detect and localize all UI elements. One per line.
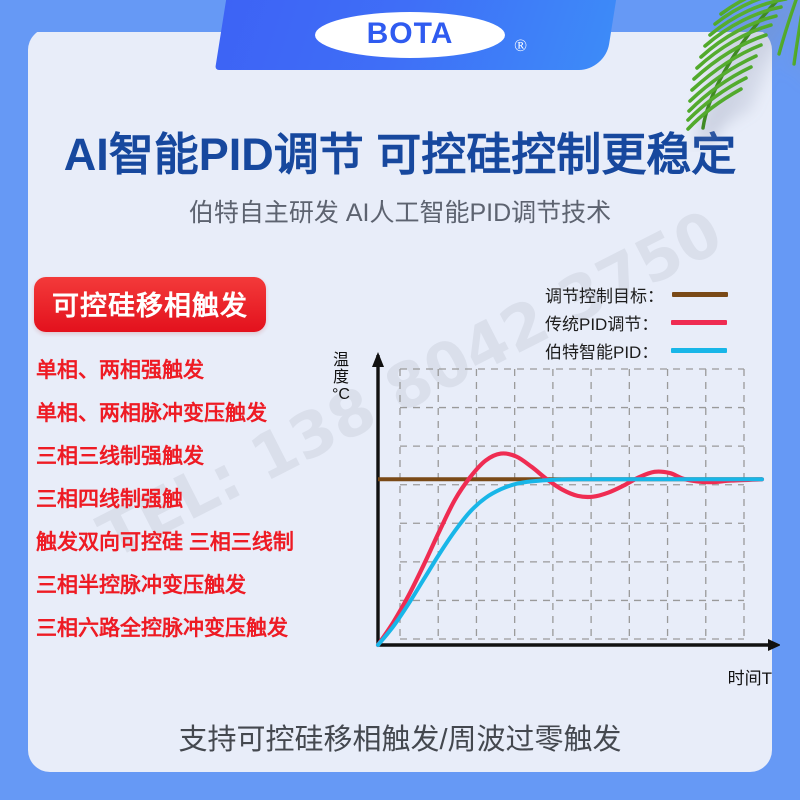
legend-label: 伯特智能PID：: [545, 338, 663, 363]
legend-swatch-smart: [671, 348, 727, 353]
footer-text: 支持可控硅移相触发/周波过零触发: [0, 716, 800, 758]
legend-entry-traditional: 传统PID调节：: [545, 310, 728, 335]
page-title: AI智能PID调节 可控硅控制更稳定: [0, 118, 800, 183]
poster-root: BOTA ®: [0, 0, 800, 800]
list-item: 单相、两相脉冲变压触发: [36, 403, 376, 424]
legend-swatch-target: [672, 292, 728, 297]
chart-legend: 调节控制目标： 传统PID调节： 伯特智能PID：: [545, 282, 728, 366]
brand-logo: BOTA ®: [215, 0, 605, 70]
list-item: 触发双向可控硅 三相三线制: [36, 532, 376, 553]
legend-label: 传统PID调节：: [545, 310, 663, 335]
x-axis-label: 时间T: [728, 664, 772, 689]
page-subtitle: 伯特自主研发 AI人工智能PID调节技术: [0, 193, 800, 229]
legend-swatch-traditional: [671, 320, 727, 325]
list-item: 单相、两相强触发: [36, 360, 376, 381]
list-item: 三相四线制强触: [36, 489, 376, 510]
status-badge: 可控硅移相触发: [34, 277, 266, 332]
registered-mark-icon: ®: [514, 36, 527, 56]
legend-entry-target: 调节控制目标：: [545, 282, 728, 307]
feature-list: 单相、两相强触发 单相、两相脉冲变压触发 三相三线制强触发 三相四线制强触 触发…: [36, 360, 376, 661]
chart-plot-area: [330, 345, 780, 685]
legend-label: 调节控制目标：: [545, 282, 664, 307]
list-item: 三相半控脉冲变压触发: [36, 575, 376, 596]
logo-text: BOTA: [367, 19, 454, 49]
legend-entry-smart: 伯特智能PID：: [545, 338, 728, 363]
pid-response-chart: 温 度 °C 时间T: [330, 345, 780, 685]
list-item: 三相三线制强触发: [36, 446, 376, 467]
list-item: 三相六路全控脉冲变压触发: [36, 618, 376, 639]
logo-ellipse: BOTA ®: [315, 12, 505, 58]
